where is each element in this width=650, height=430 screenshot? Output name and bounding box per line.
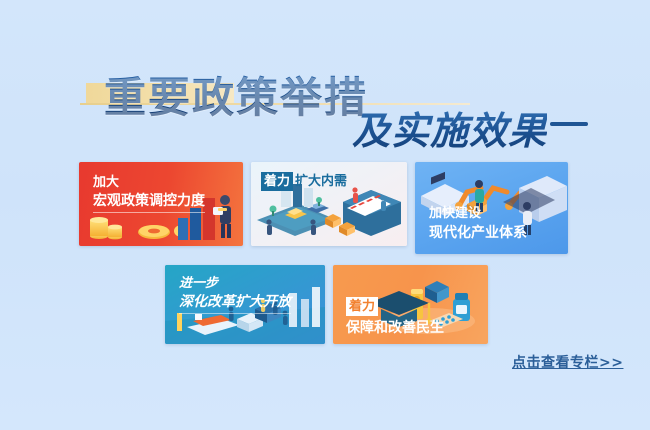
card-improve-peoples-livelihood[interactable]: 着力 保障和改善民生 bbox=[333, 265, 488, 344]
card4-caption: 进一步 深化改革扩大开放 bbox=[179, 276, 291, 314]
card1-line2: 宏观政策调控力度 bbox=[93, 193, 205, 213]
card5-caption: 着力 保障和改善民生 bbox=[346, 297, 444, 337]
page-subtitle: 及实施效果 bbox=[352, 100, 547, 155]
title-dash-decoration bbox=[550, 122, 588, 126]
view-column-link[interactable]: 点击查看专栏>> bbox=[512, 352, 623, 372]
card-deepen-reform-opening-up[interactable]: 进一步 深化改革扩大开放 bbox=[165, 265, 325, 344]
card-macro-policy-regulation[interactable]: 加大 宏观政策调控力度 bbox=[79, 162, 243, 246]
card-modern-industrial-system[interactable]: 加快建设 现代化产业体系 bbox=[415, 162, 568, 254]
card1-line1: 加大 bbox=[93, 175, 205, 190]
banner-title-area: 重要政策举措 及实施效果 bbox=[0, 56, 650, 152]
card4-line2: 深化改革扩大开放 bbox=[179, 294, 291, 314]
card-expand-domestic-demand[interactable]: 着力 扩大内需 bbox=[251, 162, 407, 246]
card3-caption: 加快建设 现代化产业体系 bbox=[429, 206, 527, 242]
card5-line1: 着力 bbox=[346, 297, 378, 316]
card3-line1: 加快建设 bbox=[429, 206, 527, 221]
policy-banner: 重要政策举措 及实施效果 bbox=[0, 0, 650, 430]
card1-caption: 加大 宏观政策调控力度 bbox=[93, 175, 205, 213]
card5-line1-wrap: 着力 bbox=[346, 297, 444, 316]
page-title: 重要政策举措 bbox=[104, 64, 368, 125]
card5-line2: 保障和改善民生 bbox=[346, 320, 444, 337]
card4-line1: 进一步 bbox=[179, 276, 291, 291]
card2-line1: 着力 bbox=[261, 172, 293, 191]
card2-caption: 着力 扩大内需 bbox=[261, 172, 347, 191]
card2-line2: 扩大内需 bbox=[295, 174, 347, 189]
card3-line2: 现代化产业体系 bbox=[429, 225, 527, 242]
